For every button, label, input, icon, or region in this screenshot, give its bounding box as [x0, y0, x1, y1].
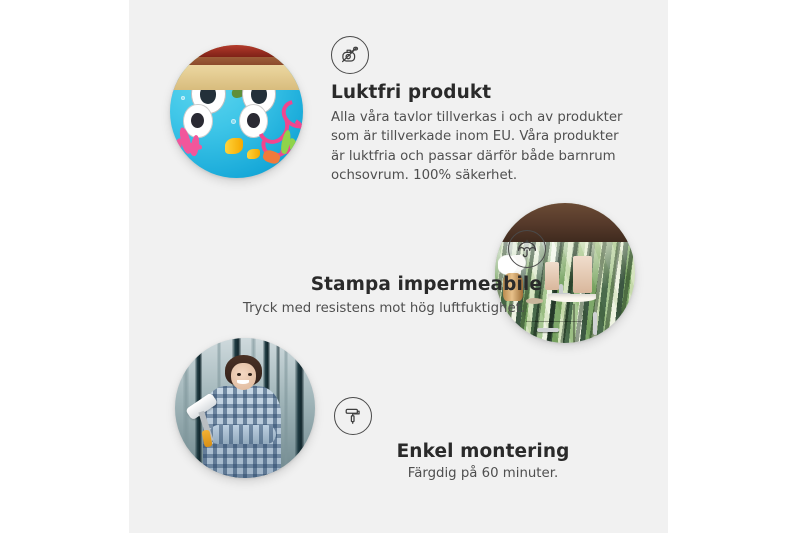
vanity-seam — [526, 321, 582, 323]
feature-image-underwater — [170, 45, 303, 178]
tree-trunk-far — [284, 338, 288, 478]
sea-rock-layer — [170, 45, 303, 57]
tree-trunk — [295, 338, 303, 478]
paint-roller-icon — [334, 397, 372, 435]
vanity-seam — [573, 304, 575, 343]
woman-eye — [237, 373, 241, 376]
icon-row — [333, 397, 633, 435]
woman-face — [231, 363, 256, 390]
no-odour-perfume-bottle-icon — [331, 36, 369, 74]
feature-title: Enkel montering — [333, 441, 633, 462]
coral-branch — [185, 143, 202, 150]
feature-block-waterproof: Stampa impermeabile Tryck med resistens … — [219, 230, 549, 318]
drawer-pull — [537, 328, 559, 332]
bubble-icon — [181, 96, 185, 100]
woman-arm — [209, 425, 276, 445]
feature-description: Färgdig på 60 minuter. — [333, 464, 633, 483]
feature-image-painter — [175, 338, 315, 478]
feature-description: Alla våra tavlor tillverkas i och av pro… — [331, 108, 636, 185]
woman-eye — [248, 373, 252, 376]
feature-title: Luktfri produkt — [331, 82, 636, 103]
feature-description: Tryck med resistens mot hög luftfuktighe… — [219, 299, 549, 318]
icon-row — [219, 230, 549, 268]
umbrella-icon — [508, 230, 546, 268]
towel — [573, 256, 591, 292]
feature-title: Stampa impermeabile — [219, 274, 549, 295]
cabinet-pull — [593, 312, 597, 334]
screenshot-root: Luktfri produkt Alla våra tavlor tillver… — [0, 0, 800, 533]
feature-block-odour-free: Luktfri produkt Alla våra tavlor tillver… — [331, 36, 636, 185]
product-feature-panel: Luktfri produkt Alla våra tavlor tillver… — [129, 0, 668, 533]
feature-block-easy-mounting: Enkel montering Färgdig på 60 minuter. — [333, 397, 633, 483]
